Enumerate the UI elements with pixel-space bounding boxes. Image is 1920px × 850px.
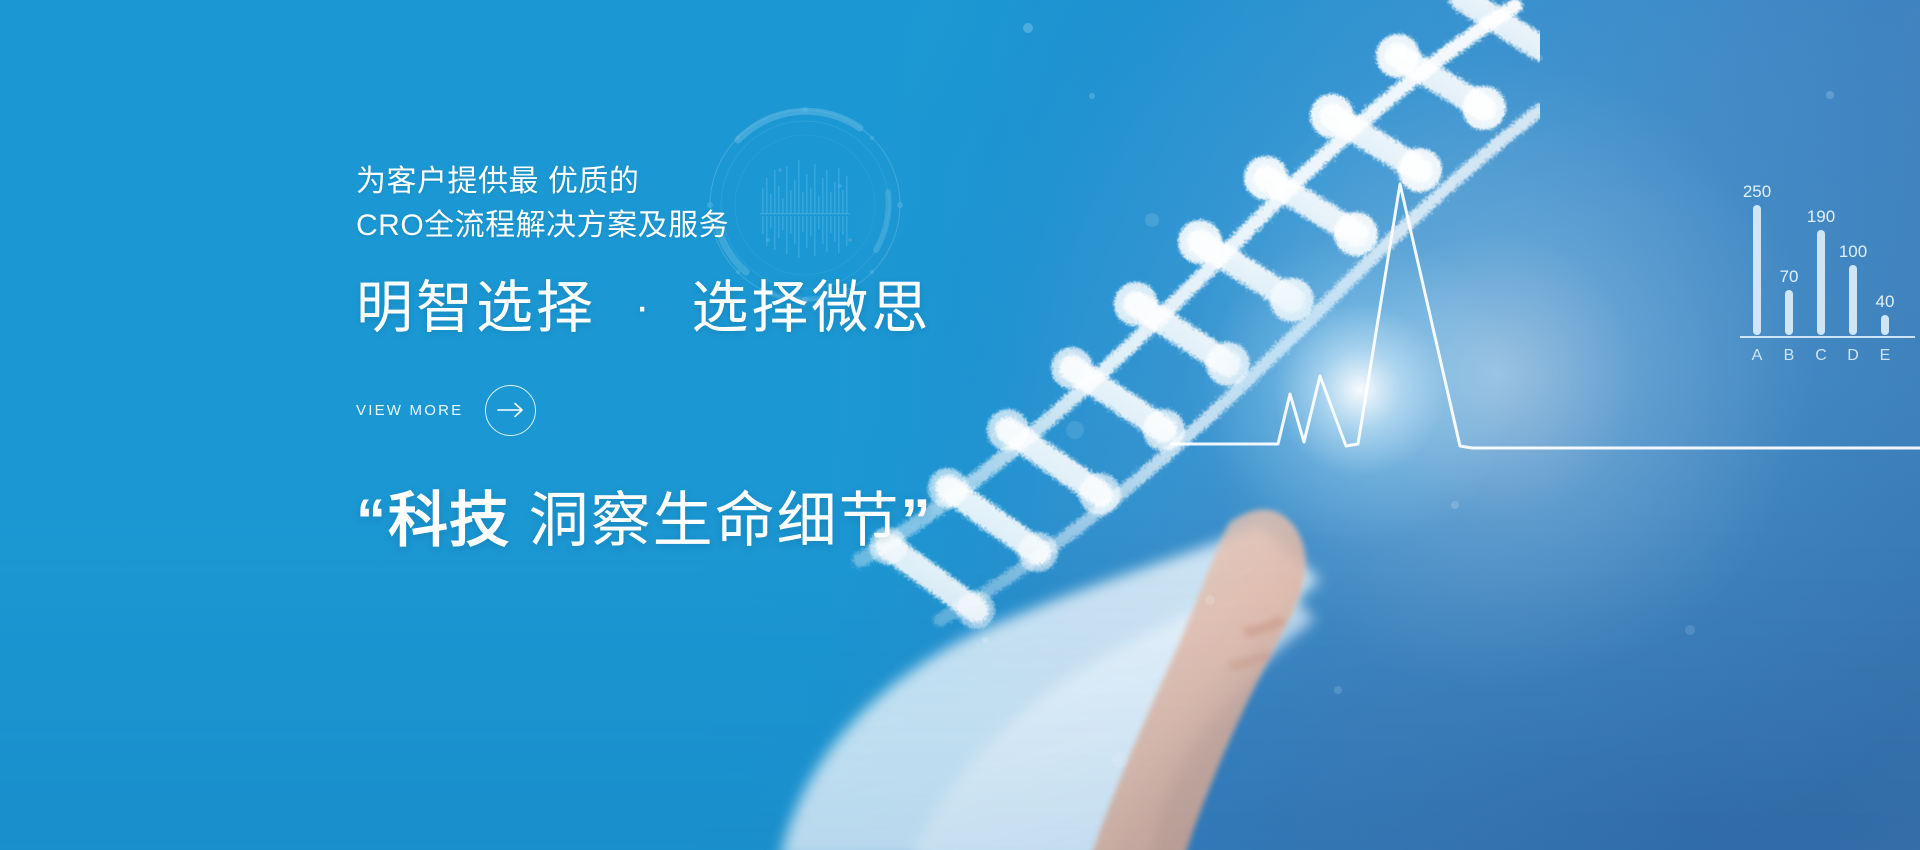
bar-category-E: E [1880, 347, 1891, 364]
bar-A [1753, 205, 1761, 335]
tagline-light: 洞察生命细节 [529, 487, 901, 554]
headline-left: 明智选择 [356, 276, 596, 340]
bar-C [1817, 230, 1825, 335]
tagline-open-quote: “ [356, 487, 388, 554]
bar-category-B: B [1784, 347, 1795, 364]
bar-value-E: 40 [1876, 292, 1895, 311]
headline-separator: · [615, 282, 673, 331]
view-more-label: VIEW MORE [356, 402, 463, 419]
bar-D [1849, 265, 1857, 335]
bottom-shade [0, 510, 1920, 850]
hero-copy: 为客户提供最 优质的 CRO全流程解决方案及服务 明智选择 · 选择微思 VIE… [356, 160, 1116, 554]
bar-category-D: D [1847, 347, 1859, 364]
bar-value-B: 70 [1780, 267, 1799, 286]
bar-category-C: C [1815, 347, 1827, 364]
bar-value-A: 250 [1743, 182, 1771, 201]
bar-value-D: 100 [1839, 242, 1867, 261]
hero-tagline: “科技 洞察生命细节” [356, 488, 1116, 554]
tagline-close-quote: ” [901, 487, 933, 554]
hero-subtitle: 为客户提供最 优质的 CRO全流程解决方案及服务 [356, 160, 1116, 249]
arrow-right-icon[interactable] [485, 385, 536, 436]
bar-value-C: 190 [1807, 207, 1835, 226]
mini-bar-chart: 250 70 190 100 40 A B C D E [1735, 175, 1920, 375]
hero-headline: 明智选择 · 选择微思 [356, 277, 1116, 341]
bar-B [1785, 290, 1793, 335]
view-more-button[interactable]: VIEW MORE [356, 385, 536, 436]
bar-category-A: A [1752, 347, 1763, 364]
tagline-strong: 科技 [388, 487, 510, 554]
headline-right: 选择微思 [691, 276, 931, 340]
bar-E [1881, 315, 1889, 335]
hero-banner: 250 70 190 100 40 A B C D E [0, 0, 1920, 850]
